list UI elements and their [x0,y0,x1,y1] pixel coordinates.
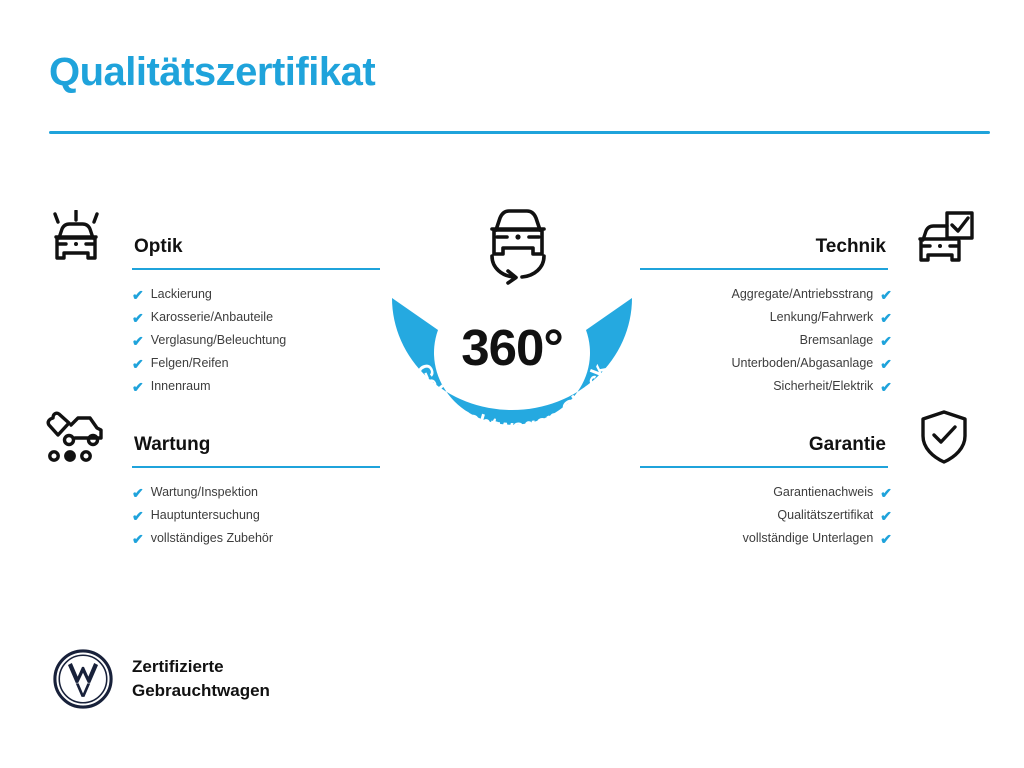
list-item-label: Lackierung [151,283,212,306]
list-item: ✔Innenraum [40,375,380,398]
check-icon: ✔ [132,532,144,546]
check-icon: ✔ [880,380,892,394]
list-item-label: Hauptuntersuchung [151,504,260,527]
section-wartung: Wartung ✔Wartung/Inspektion ✔Hauptunters… [40,406,380,550]
check-icon: ✔ [132,380,144,394]
volkswagen-logo [52,648,114,710]
section-wartung-title: Wartung [134,435,210,454]
list-item-label: Unterboden/Abgasanlage [731,352,873,375]
section-technik-header: Technik [640,208,980,270]
list-item: Bremsanlage✔ [640,329,980,352]
list-item: Unterboden/Abgasanlage✔ [640,352,980,375]
page-title: Qualitätszertifikat [49,52,375,92]
shield-check-icon [908,406,980,468]
list-item-label: Sicherheit/Elektrik [773,375,873,398]
list-item: Garantienachweis✔ [640,481,980,504]
section-optik-header: Optik [40,208,380,270]
list-item: ✔Verglasung/Beleuchtung [40,329,380,352]
list-item-label: Bremsanlage [800,329,874,352]
check-icon: ✔ [880,532,892,546]
title-divider [49,131,990,134]
list-item: vollständige Unterlagen✔ [640,527,980,550]
check-icon: ✔ [132,486,144,500]
section-optik: Optik ✔Lackierung ✔Karosserie/Anbauteile… [40,208,380,398]
list-item-label: Garantienachweis [773,481,873,504]
list-item-label: Innenraum [151,375,211,398]
list-item: ✔Lackierung [40,283,380,306]
list-item: Qualitätszertifikat✔ [640,504,980,527]
brand-line-2: Gebrauchtwagen [132,679,270,703]
list-item: ✔Hauptuntersuchung [40,504,380,527]
list-item-label: Lenkung/Fahrwerk [770,306,874,329]
badge-center-label: 360° [376,322,648,373]
list-item: Lenkung/Fahrwerk✔ [640,306,980,329]
section-technik: Technik Aggregate/Antriebsstrang✔ Lenkun… [640,208,980,398]
section-wartung-list: ✔Wartung/Inspektion ✔Hauptuntersuchung ✔… [40,481,380,550]
section-optik-underline [132,268,380,270]
check-icon: ✔ [880,509,892,523]
list-item: Sicherheit/Elektrik✔ [640,375,980,398]
section-technik-list: Aggregate/Antriebsstrang✔ Lenkung/Fahrwe… [640,283,980,398]
list-item-label: Qualitätszertifikat [777,504,873,527]
list-item: ✔Felgen/Reifen [40,352,380,375]
check-icon: ✔ [880,311,892,325]
section-wartung-underline [132,466,380,468]
section-garantie-header: Garantie [640,406,980,468]
car-front-shine-icon [40,208,112,270]
section-garantie: Garantie Garantienachweis✔ Qualitätszert… [640,406,980,550]
check-icon: ✔ [880,486,892,500]
check-icon: ✔ [132,311,144,325]
check-icon: ✔ [132,334,144,348]
brand-text: Zertifizierte Gebrauchtwagen [132,655,270,703]
brand-line-1: Zertifizierte [132,655,270,679]
section-garantie-underline [640,466,888,468]
list-item: ✔vollständiges Zubehör [40,527,380,550]
section-technik-title: Technik [816,237,886,256]
car-rotate-360-icon [468,196,568,296]
section-wartung-header: Wartung [40,406,380,468]
list-item-label: vollständige Unterlagen [743,527,874,550]
section-optik-list: ✔Lackierung ✔Karosserie/Anbauteile ✔Verg… [40,283,380,398]
list-item-label: Wartung/Inspektion [151,481,258,504]
badge-360-gebrauchtwagen-check: Gebrauchtwagen-Check 360° [376,196,656,486]
list-item-label: vollständiges Zubehör [151,527,273,550]
check-icon: ✔ [880,288,892,302]
list-item-label: Felgen/Reifen [151,352,229,375]
section-optik-title: Optik [134,237,183,256]
section-garantie-list: Garantienachweis✔ Qualitätszertifikat✔ v… [640,481,980,550]
check-icon: ✔ [880,357,892,371]
list-item: ✔Karosserie/Anbauteile [40,306,380,329]
check-icon: ✔ [132,288,144,302]
list-item-label: Verglasung/Beleuchtung [151,329,287,352]
check-icon: ✔ [132,357,144,371]
section-garantie-title: Garantie [809,435,886,454]
list-item: Aggregate/Antriebsstrang✔ [640,283,980,306]
list-item: ✔Wartung/Inspektion [40,481,380,504]
brand-lockup: Zertifizierte Gebrauchtwagen [52,648,270,710]
car-front-checkbox-icon [908,208,980,270]
list-item-label: Aggregate/Antriebsstrang [732,283,874,306]
section-technik-underline [640,268,888,270]
list-item-label: Karosserie/Anbauteile [151,306,273,329]
check-icon: ✔ [132,509,144,523]
check-icon: ✔ [880,334,892,348]
car-service-wrench-icon [40,406,112,468]
